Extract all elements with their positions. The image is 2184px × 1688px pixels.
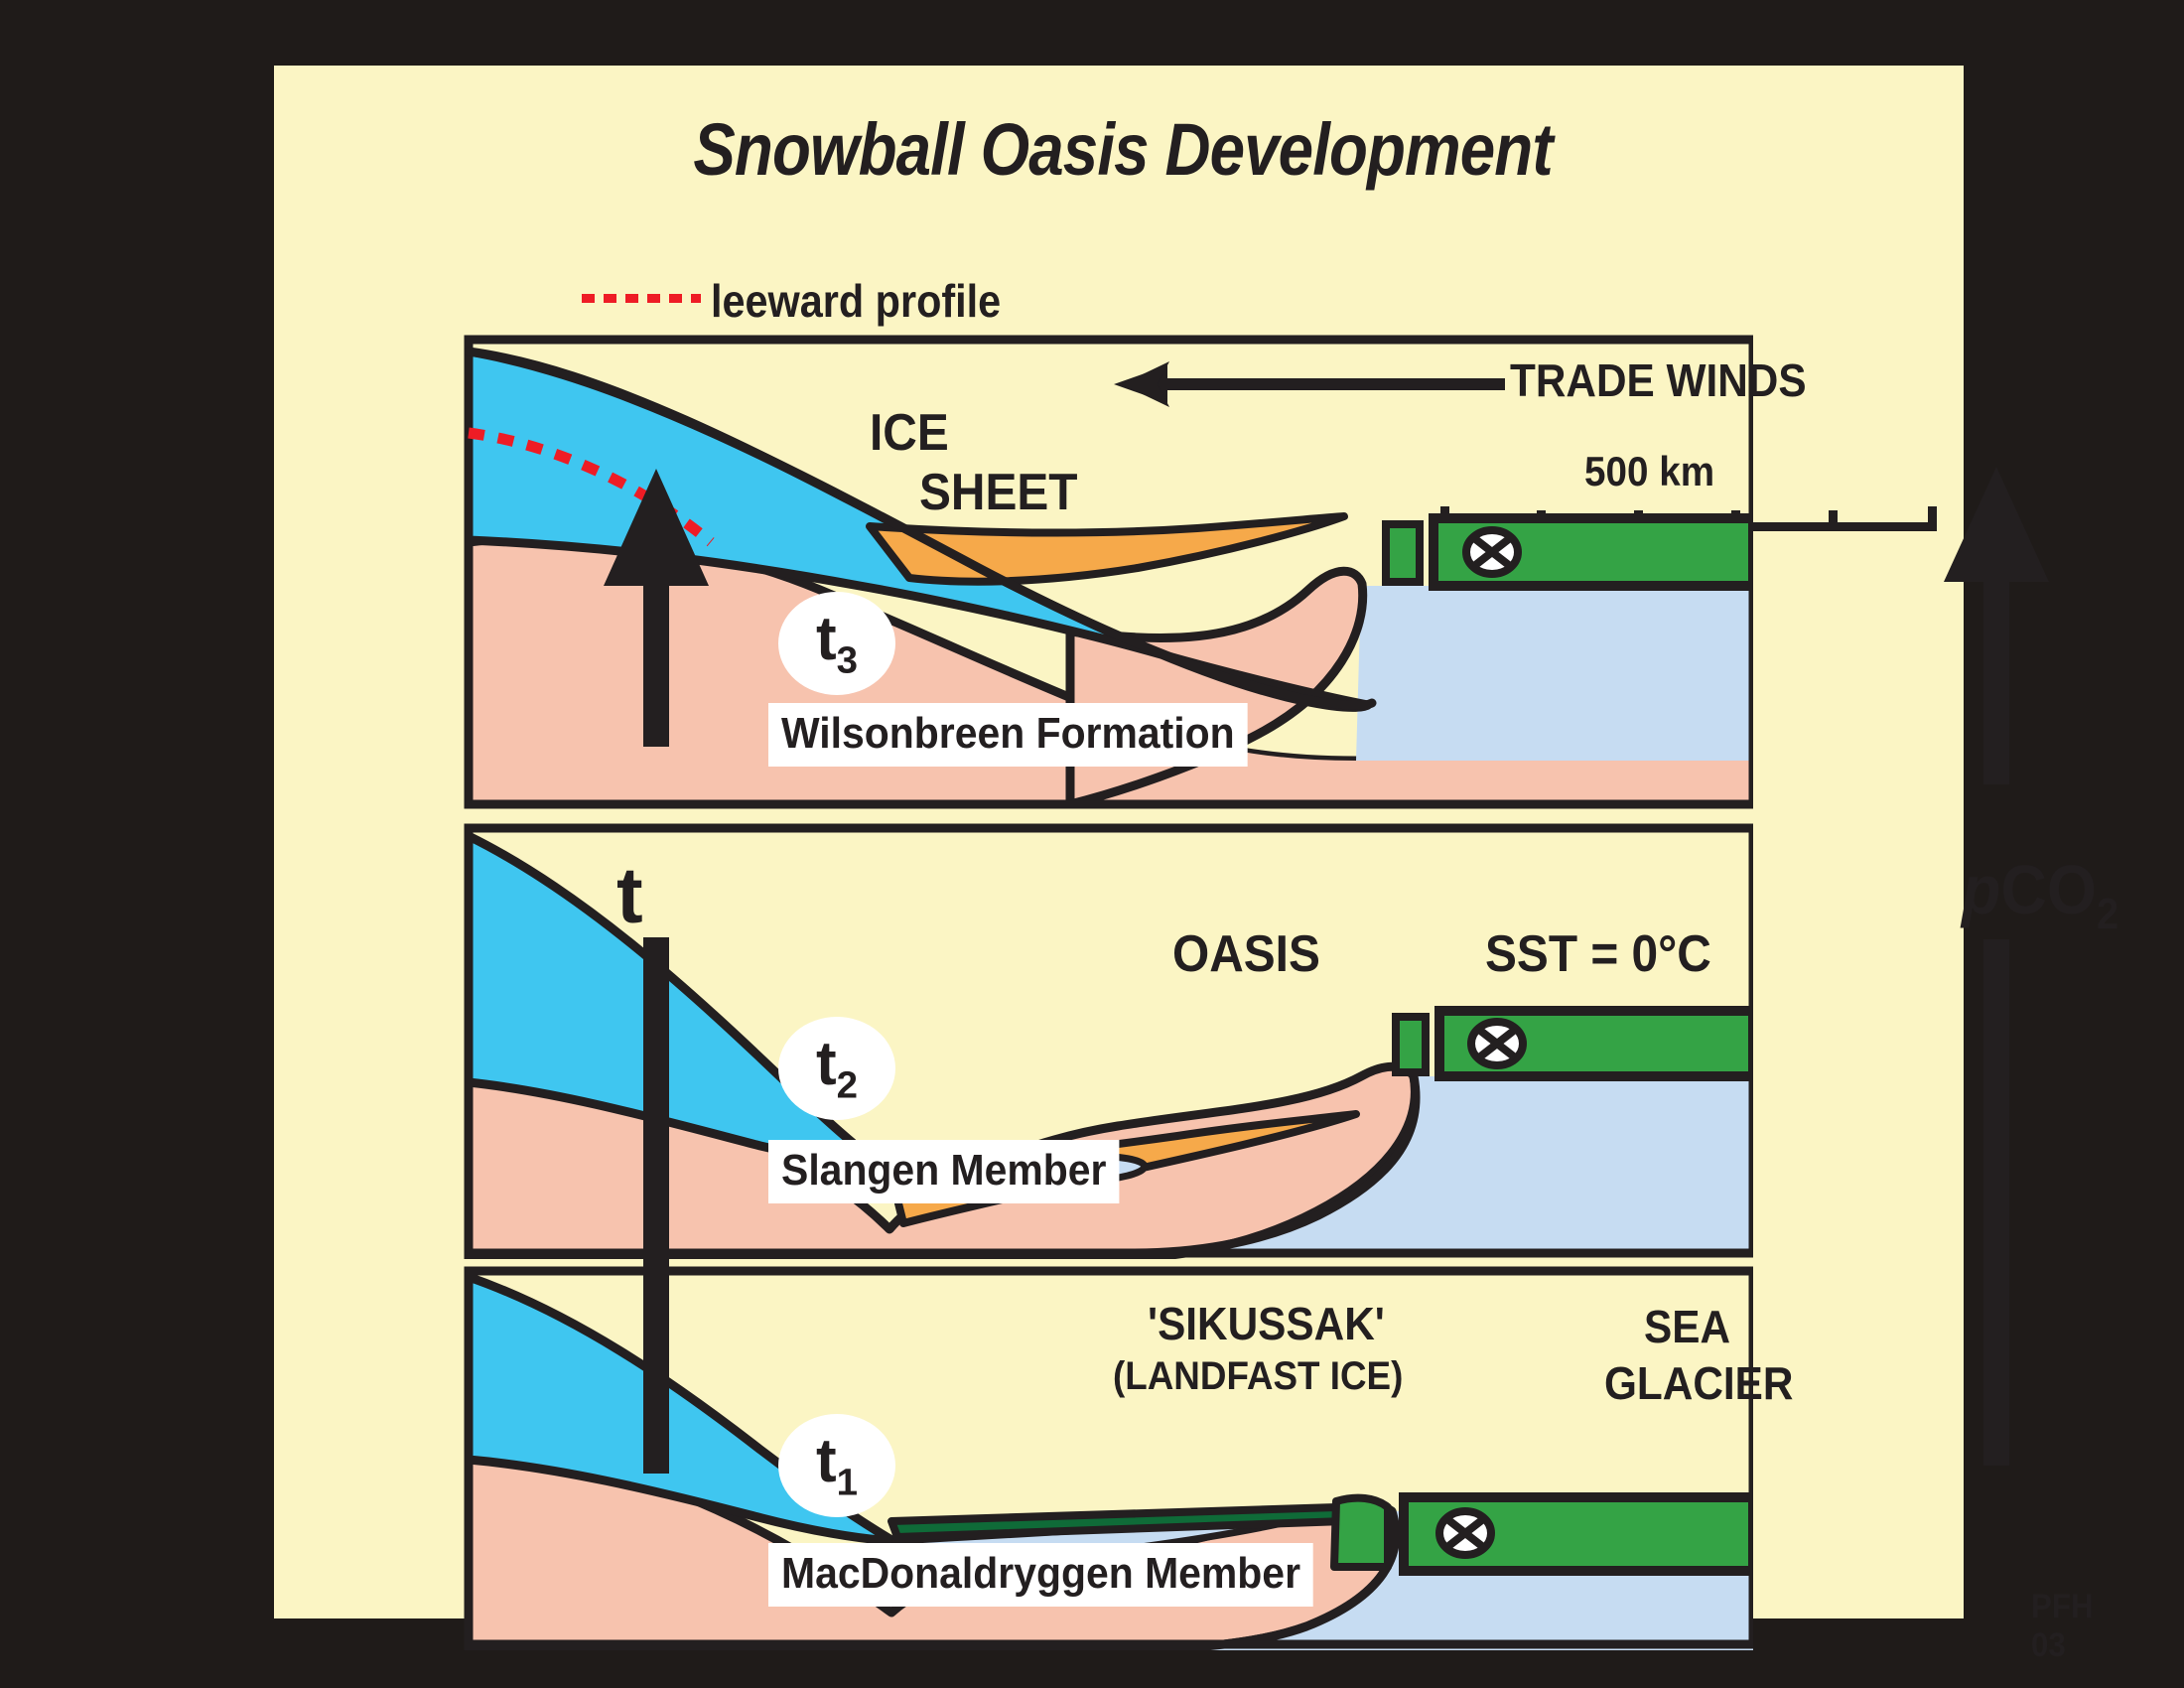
leeward-profile-label: leeward profile xyxy=(711,274,1001,328)
credit-label: PFH 03 xyxy=(2031,1588,2094,1665)
pco2-axis-label: pCO2 xyxy=(1962,850,2118,939)
flow-into-page-symbol-t1 xyxy=(1439,1511,1491,1555)
formation-label-t1: MacDonaldryggen Member xyxy=(768,1543,1313,1607)
pco2-sub: 2 xyxy=(2097,891,2118,938)
flow-into-page-symbol-t2 xyxy=(1471,1022,1523,1065)
landfast-ice-label: (LANDFAST ICE) xyxy=(1113,1354,1403,1399)
sikussak-label: 'SIKUSSAK' xyxy=(1148,1297,1385,1350)
figure-frame: Snowball Oasis Development leeward profi… xyxy=(270,62,1968,1622)
time-badge-t3-text: t3 xyxy=(816,604,858,682)
pco2-co: CO xyxy=(2000,851,2097,928)
formation-label-t2: Slangen Member xyxy=(768,1140,1119,1203)
time-badge-t2-text: t2 xyxy=(816,1029,858,1107)
sea-glacier-label-line1: SEA xyxy=(1644,1300,1730,1353)
time-axis-arrow xyxy=(602,463,711,1476)
time-badge-t2: t2 xyxy=(778,1017,895,1120)
formation-label-t3: Wilsonbreen Formation xyxy=(768,703,1248,767)
sea-glacier-label-line2: GLACIER xyxy=(1604,1356,1793,1410)
time-badge-t1-text: t1 xyxy=(816,1426,858,1504)
time-badge-t1: t1 xyxy=(778,1414,895,1517)
sst-label: SST = 0°C xyxy=(1485,924,1711,984)
pco2-p: p xyxy=(1962,851,2000,928)
ice-sheet-label-line1: ICE xyxy=(870,403,949,463)
pco2-axis-arrow xyxy=(1942,461,2051,1474)
oasis-label: OASIS xyxy=(1172,924,1320,984)
page-title: Snowball Oasis Development xyxy=(393,107,1853,192)
ice-sheet-label-line2: SHEET xyxy=(919,463,1078,522)
leeward-profile-swatch xyxy=(582,294,701,303)
time-axis-label: t xyxy=(616,850,643,941)
time-badge-t3: t3 xyxy=(778,592,895,695)
